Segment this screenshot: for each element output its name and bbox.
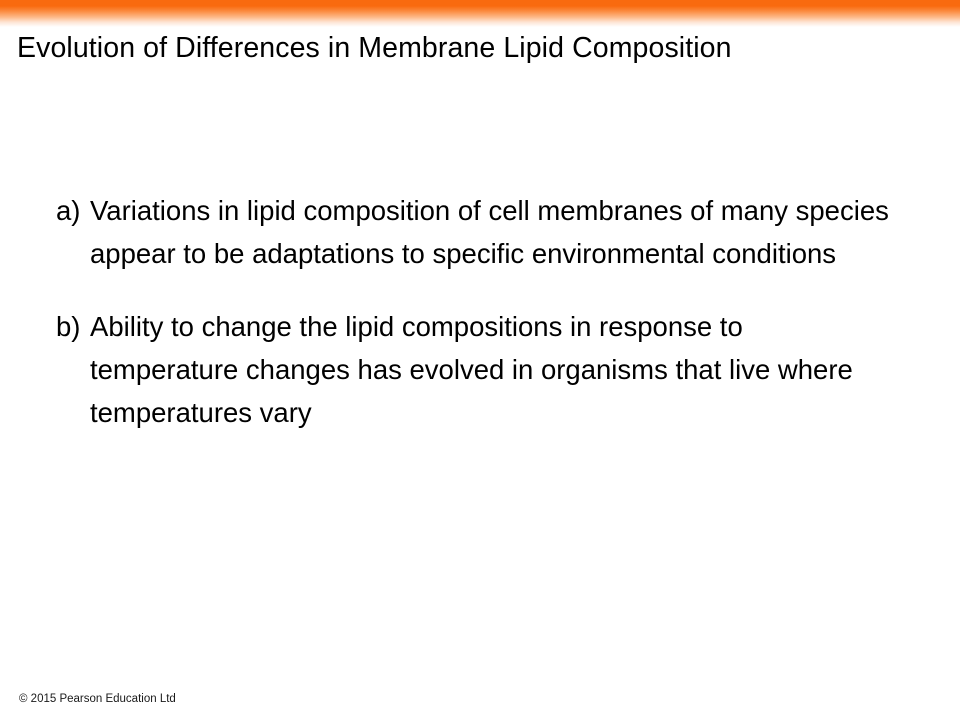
- orange-gradient-band: [0, 0, 960, 27]
- slide-title: Evolution of Differences in Membrane Lip…: [17, 32, 917, 65]
- bullet-text-a: Variations in lipid composition of cell …: [90, 189, 890, 275]
- bullet-marker-b: b): [56, 305, 90, 348]
- list-item: b) Ability to change the lipid compositi…: [56, 305, 906, 434]
- bullet-marker-a: a): [56, 189, 90, 232]
- list-item: a) Variations in lipid composition of ce…: [56, 189, 906, 275]
- slide-canvas: Evolution of Differences in Membrane Lip…: [0, 0, 960, 720]
- bullet-list: a) Variations in lipid composition of ce…: [56, 189, 906, 434]
- bullet-text-b: Ability to change the lipid compositions…: [90, 305, 890, 434]
- copyright-notice: © 2015 Pearson Education Ltd: [19, 692, 176, 706]
